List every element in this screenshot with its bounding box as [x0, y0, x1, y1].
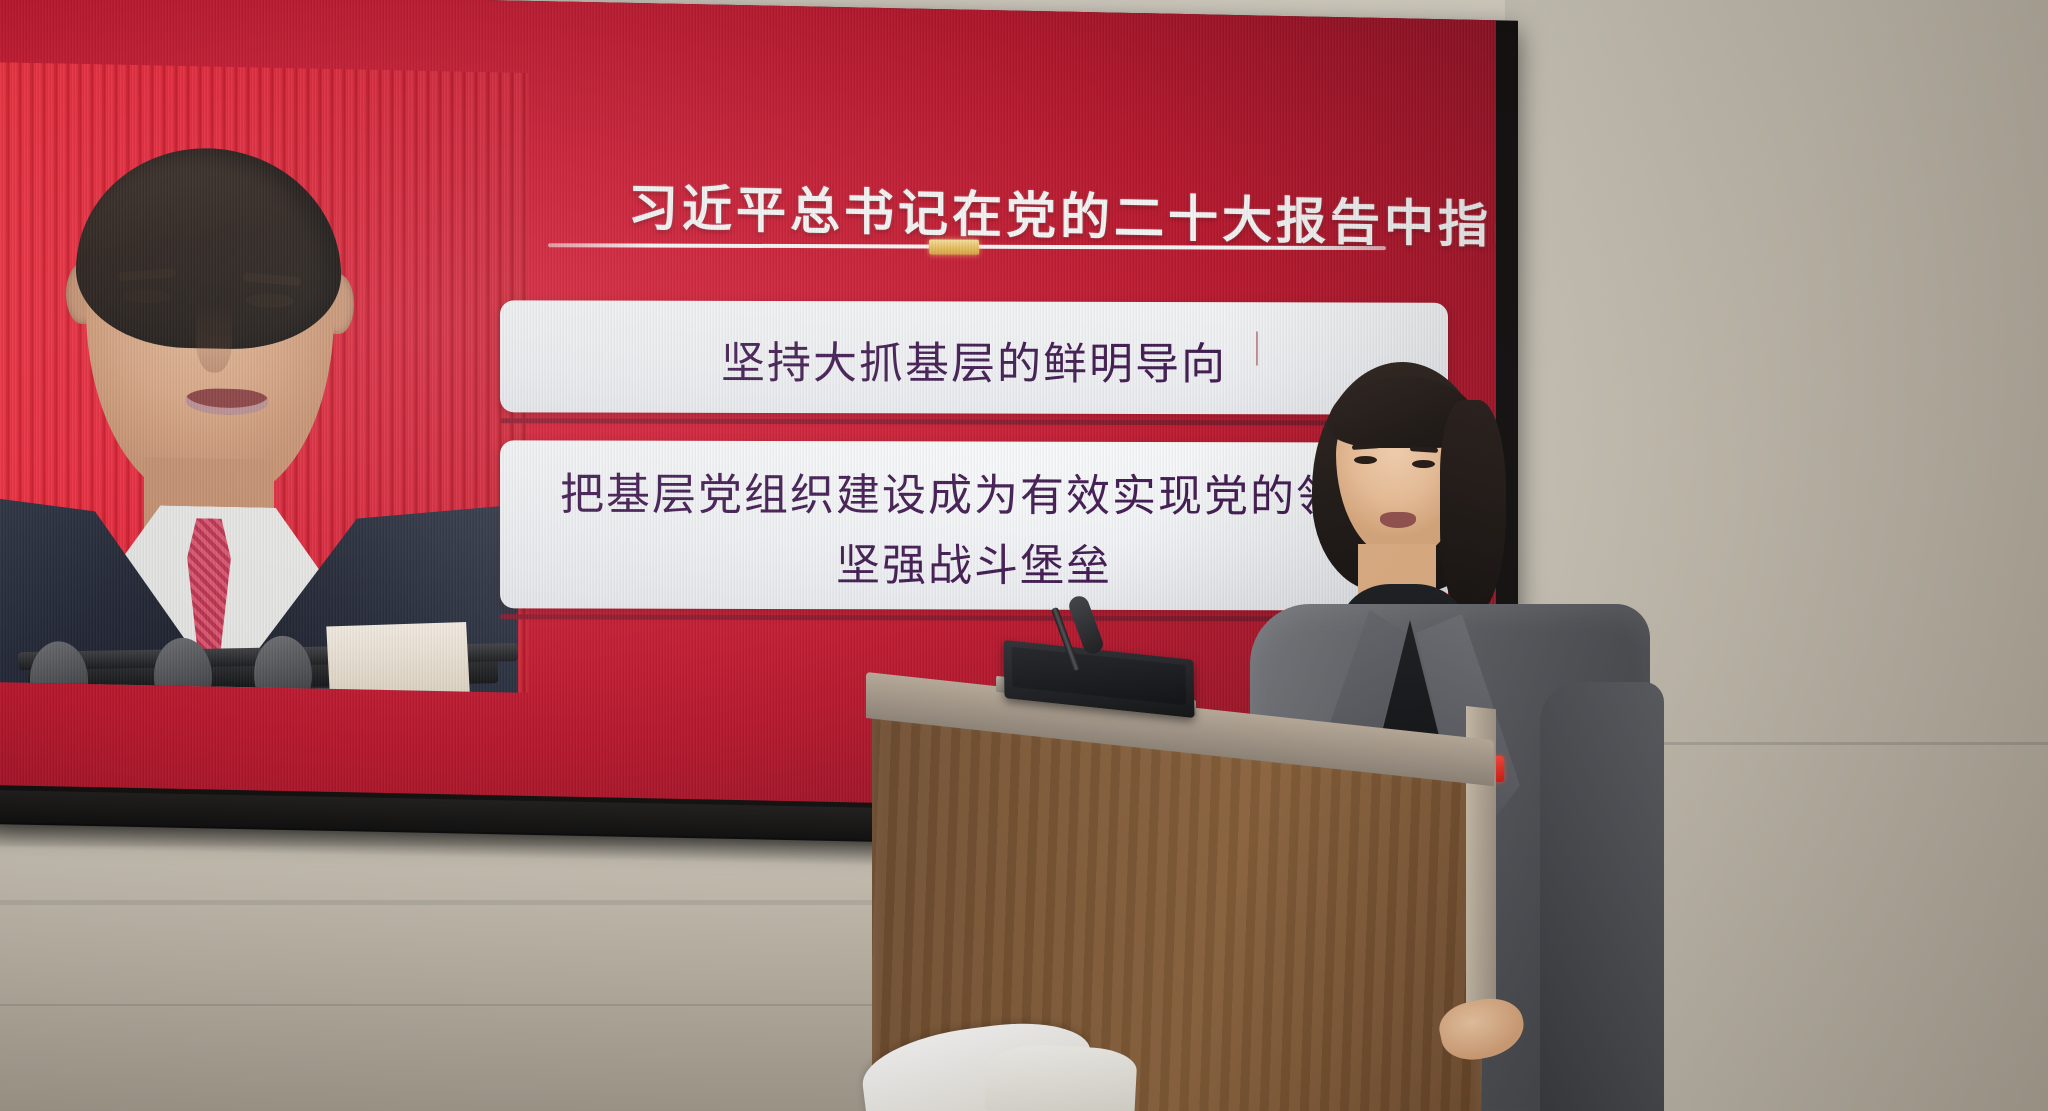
floor-seam — [0, 1004, 900, 1006]
photo-scene: 习近平总书记在党的二十大报告中指出 坚持大抓基层的鲜明导向 把基层党组织建设成为… — [0, 0, 2048, 1111]
presenter-hair-side — [1440, 400, 1506, 615]
portrait-nose — [196, 304, 232, 373]
speaker-portrait-photo — [0, 61, 528, 692]
foreground-paper-2 — [984, 1042, 1137, 1111]
divider-gold-accent — [929, 240, 979, 255]
presenter-eye-left — [1354, 456, 1377, 464]
laptop-display — [1012, 647, 1187, 705]
portrait-lectern-paper — [326, 622, 469, 693]
presenter-eye-right — [1412, 460, 1435, 468]
slide-divider — [548, 236, 1386, 255]
baseboard — [0, 900, 880, 905]
presenter-arm — [1540, 682, 1664, 1111]
presenter-mouth — [1380, 512, 1416, 528]
